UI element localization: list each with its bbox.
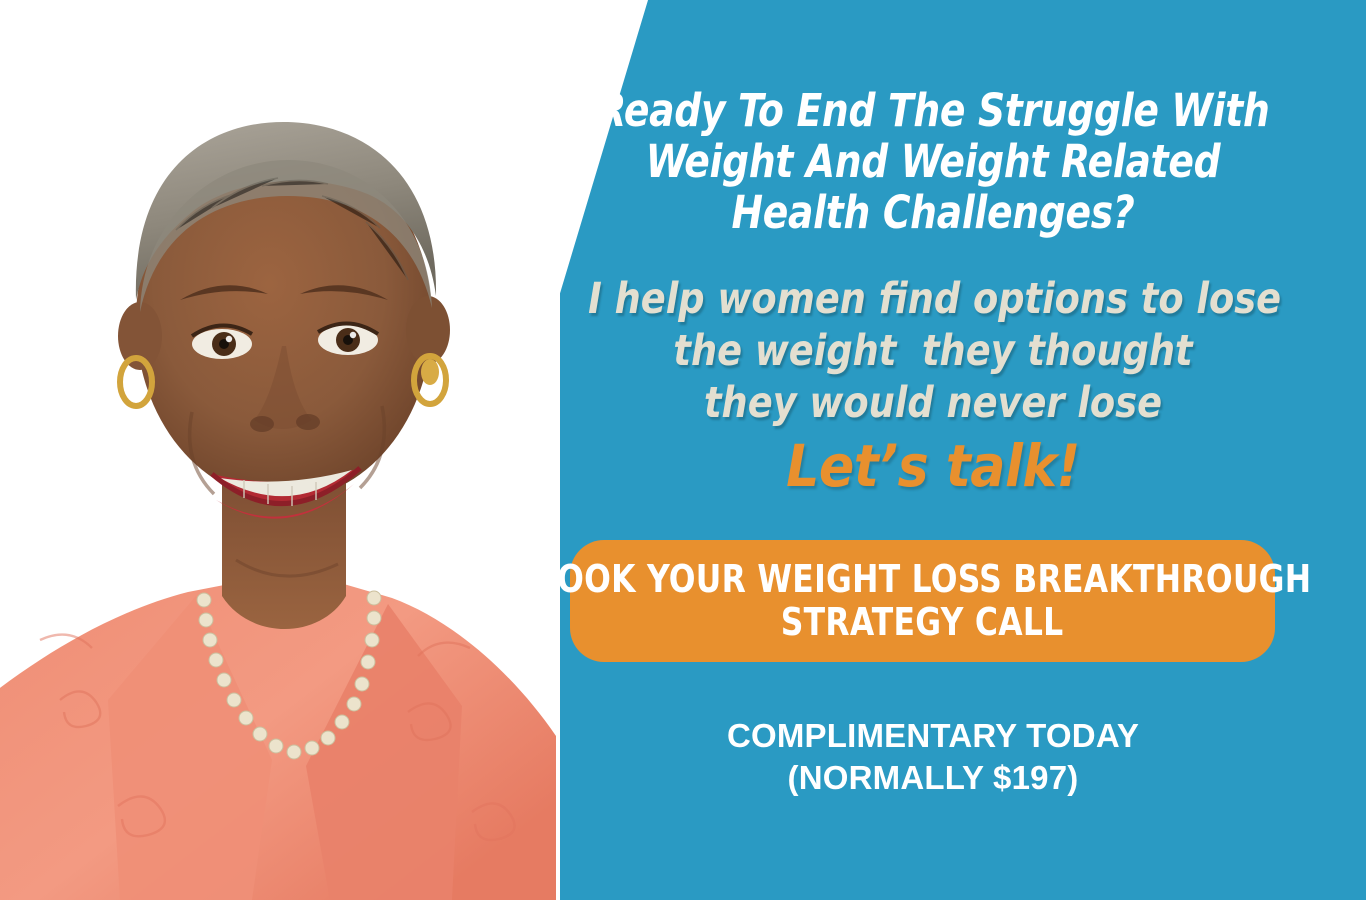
price-footnote: COMPLIMENTARY TODAY (NORMALLY $197) (566, 715, 1300, 799)
headline-line-2: Weight And Weight Related (597, 137, 1268, 188)
subheading: I help women find options to lose the we… (584, 239, 1281, 430)
cta-line-2: STRATEGY CALL (533, 601, 1312, 644)
portrait-photo (0, 0, 560, 900)
subheading-line-3: they would never lose (588, 377, 1278, 429)
subheading-line-1: I help women find options to lose (588, 273, 1278, 325)
page-title: Ready To End The Struggle With Weight An… (592, 0, 1275, 239)
promo-banner: Ready To End The Struggle With Weight An… (0, 0, 1366, 900)
headline-line-1: Ready To End The Struggle With (597, 86, 1268, 137)
book-strategy-call-button[interactable]: BOOK YOUR WEIGHT LOSS BREAKTHROUGH STRAT… (570, 540, 1275, 662)
subheading-line-2: the weight they thought (588, 325, 1278, 377)
cta-line-1: BOOK YOUR WEIGHT LOSS BREAKTHROUGH (533, 558, 1312, 601)
headline-line-3: Health Challenges? (597, 188, 1268, 239)
footnote-line-1: COMPLIMENTARY TODAY (566, 715, 1300, 757)
footnote-line-2: (NORMALLY $197) (566, 757, 1300, 799)
portrait-illustration (0, 0, 560, 900)
lets-talk-accent: Let’s talk! (566, 430, 1300, 497)
cta-label: BOOK YOUR WEIGHT LOSS BREAKTHROUGH STRAT… (533, 558, 1312, 643)
copy-column: Ready To End The Struggle With Weight An… (566, 0, 1300, 900)
